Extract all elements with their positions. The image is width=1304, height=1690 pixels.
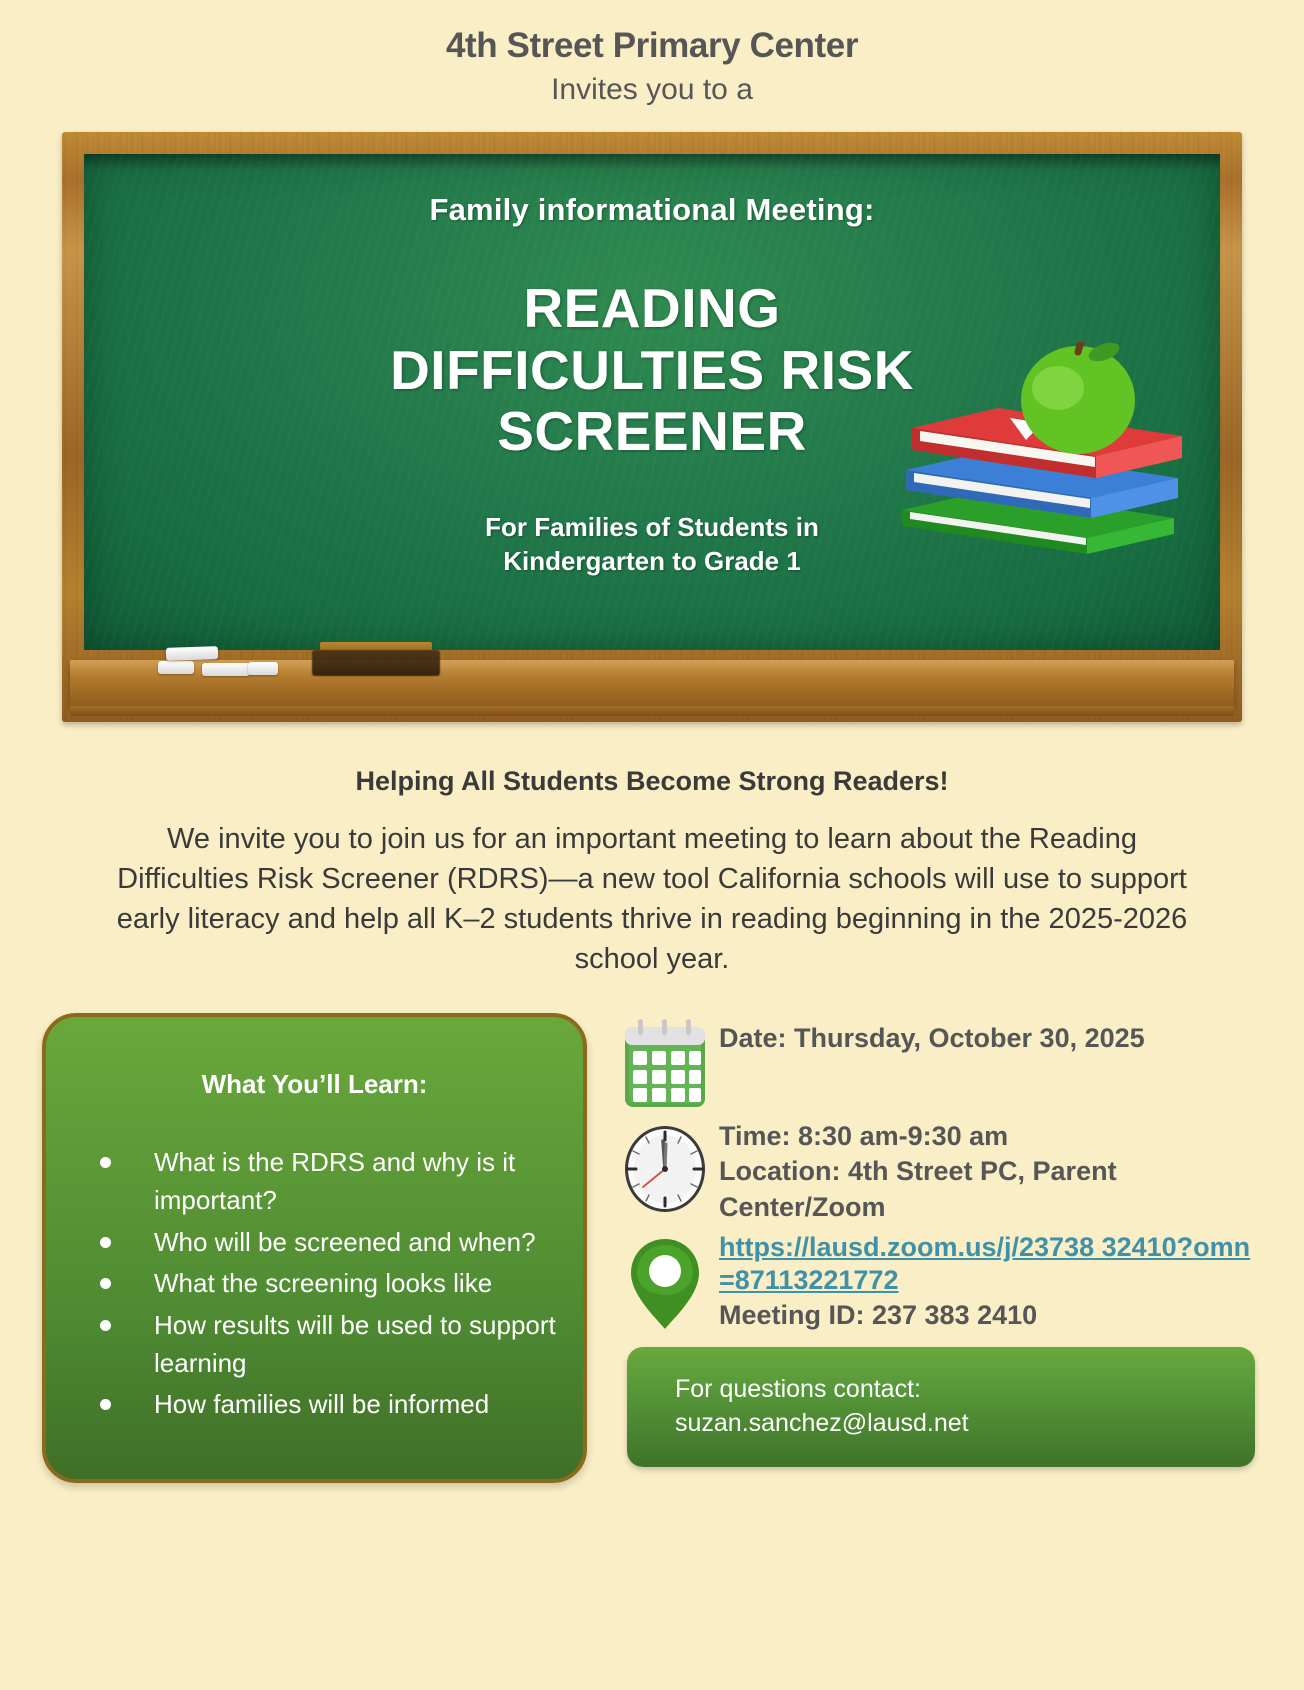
flyer-header: 4th Street Primary Center Invites you to… [0, 0, 1304, 108]
contact-email[interactable]: suzan.sanchez@lausd.net [675, 1407, 1223, 1441]
chalkboard-surface: Family informational Meeting: READING DI… [84, 154, 1220, 650]
meeting-id-text: Meeting ID: 237 383 2410 [719, 1298, 1251, 1333]
zoom-link-row: https://lausd.zoom.us/j/23738 32410?omn=… [611, 1229, 1251, 1334]
contact-label: For questions contact: [675, 1373, 1223, 1407]
list-item: What the screening looks like [72, 1265, 557, 1303]
list-item-label: How results will be used to support lear… [154, 1310, 556, 1378]
zoom-meeting-link[interactable]: https://lausd.zoom.us/j/23738 32410?omn=… [719, 1231, 1251, 1299]
time-text: Time: 8:30 am-9:30 am [719, 1119, 1251, 1154]
list-item: Who will be screened and when? [72, 1224, 557, 1262]
school-name: 4th Street Primary Center [0, 26, 1304, 66]
what-youll-learn-box: What You’ll Learn: What is the RDRS and … [42, 1013, 587, 1483]
list-item: How families will be informed [72, 1386, 557, 1424]
map-pin-icon [619, 1233, 711, 1333]
time-location-row: Time: 8:30 am-9:30 am Location: 4th Stre… [611, 1117, 1251, 1224]
calendar-icon [619, 1017, 711, 1113]
list-item-label: What the screening looks like [154, 1268, 492, 1298]
clock-icon [619, 1121, 711, 1217]
books-apple-svg [882, 342, 1192, 572]
bullet-icon [100, 1399, 111, 1410]
list-item: How results will be used to support lear… [72, 1307, 557, 1382]
bullet-icon [100, 1320, 111, 1331]
list-item-label: How families will be informed [154, 1389, 489, 1419]
calendar-icon-wrap [611, 1013, 719, 1113]
map-pin-icon-wrap [611, 1229, 719, 1333]
chalk-stick [202, 663, 250, 676]
intro-paragraph: We invite you to join us for an importan… [112, 819, 1192, 979]
chalk-stick [248, 662, 278, 675]
books-and-apple-illustration [882, 342, 1192, 572]
eraser-icon [312, 650, 440, 676]
list-item-label: What is the RDRS and why is it important… [154, 1147, 515, 1215]
chalk-stick [166, 646, 218, 661]
list-item-label: Who will be screened and when? [154, 1227, 536, 1257]
meeting-kicker: Family informational Meeting: [84, 192, 1220, 228]
bullet-icon [100, 1157, 111, 1168]
content-columns: What You’ll Learn: What is the RDRS and … [0, 1013, 1304, 1483]
date-text: Date: Thursday, October 30, 2025 [719, 1013, 1145, 1056]
clock-icon-wrap [611, 1117, 719, 1217]
what-youll-learn-list: What is the RDRS and why is it important… [72, 1144, 557, 1424]
invitation-line: Invites you to a [0, 72, 1304, 108]
contact-box: For questions contact: suzan.sanchez@lau… [627, 1347, 1255, 1467]
chalk-tray-lip [70, 706, 1234, 716]
time-location-text: Time: 8:30 am-9:30 am Location: 4th Stre… [719, 1117, 1251, 1224]
meeting-title-line-1: READING [84, 278, 1220, 340]
chalk-stick [158, 661, 194, 674]
location-text: Location: 4th Street PC, Parent Center/Z… [719, 1154, 1251, 1224]
bullet-icon [100, 1278, 111, 1289]
what-youll-learn-title: What You’ll Learn: [72, 1069, 557, 1100]
chalkboard-graphic: Family informational Meeting: READING DI… [62, 132, 1242, 722]
apple-icon [1021, 342, 1135, 454]
bullet-icon [100, 1237, 111, 1248]
event-details: Date: Thursday, October 30, 2025 [611, 1013, 1251, 1466]
tagline: Helping All Students Become Strong Reade… [0, 766, 1304, 797]
list-item: What is the RDRS and why is it important… [72, 1144, 557, 1219]
date-row: Date: Thursday, October 30, 2025 [611, 1013, 1251, 1113]
